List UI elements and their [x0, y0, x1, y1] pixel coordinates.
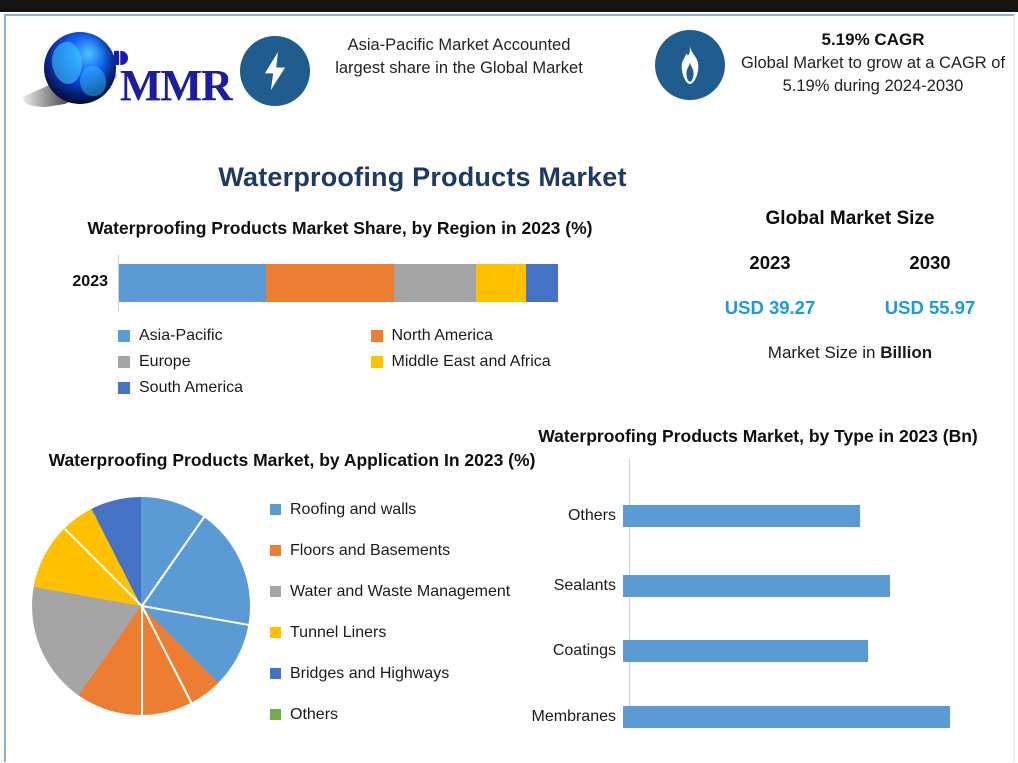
- market-size-unit-prefix: Market Size in: [768, 343, 880, 362]
- region-chart-legend: Asia-PacificNorth AmericaEuropeMiddle Ea…: [118, 327, 623, 405]
- application-share-chart: Waterproofing Products Market, by Applic…: [22, 448, 562, 733]
- legend-label: North America: [392, 327, 493, 345]
- legend-swatch-icon: [270, 668, 281, 679]
- bar-segment-europe: [394, 264, 476, 302]
- infographic-page: ⁍ MMR Asia-Pacific Market Accounted larg…: [0, 0, 1018, 763]
- global-market-size-panel: Global Market Size 2023 USD 39.27 2030 U…: [690, 208, 1010, 363]
- legend-swatch-icon: [118, 356, 130, 368]
- legend-swatch-icon: [371, 330, 383, 342]
- header-highlight-cagr: 5.19% CAGR Global Market to grow at a CA…: [655, 24, 1013, 100]
- header-highlight-text-2: 5.19% CAGR Global Market to grow at a CA…: [725, 24, 1013, 98]
- legend-label: Others: [290, 706, 338, 724]
- market-size-year-2023: 2023: [690, 252, 850, 274]
- bar-segment-north-america: [266, 264, 394, 302]
- lightning-bolt-icon: [240, 36, 310, 106]
- region-share-chart: Waterproofing Products Market Share, by …: [30, 216, 650, 405]
- market-size-unit-note: Market Size in Billion: [690, 343, 1010, 363]
- type-chart: Waterproofing Products Market, by Type i…: [498, 424, 1018, 729]
- page-title: Waterproofing Products Market: [0, 162, 845, 193]
- legend-label: Tunnel Liners: [290, 624, 386, 642]
- header-highlight-text-1: Asia-Pacific Market Accounted largest sh…: [310, 30, 600, 80]
- market-size-col-2023: 2023 USD 39.27: [690, 252, 850, 319]
- globe-icon: [44, 32, 116, 104]
- legend-label: Water and Waste Management: [290, 583, 510, 601]
- legend-item: North America: [371, 327, 624, 345]
- global-market-size-rows: 2023 USD 39.27 2030 USD 55.97: [690, 252, 1010, 319]
- type-chart-row: Sealants: [498, 569, 1018, 603]
- legend-item: Europe: [118, 353, 371, 371]
- legend-swatch-icon: [118, 382, 130, 394]
- type-chart-row: Membranes: [498, 700, 1018, 734]
- flame-icon: [655, 30, 725, 100]
- legend-swatch-icon: [270, 627, 281, 638]
- market-size-col-2030: 2030 USD 55.97: [850, 252, 1010, 319]
- legend-label: Bridges and Highways: [290, 665, 449, 683]
- legend-swatch-icon: [270, 504, 281, 515]
- type-chart-bar: [623, 640, 868, 662]
- type-chart-track: [622, 499, 1018, 533]
- region-chart-plot: 2023: [30, 255, 650, 311]
- legend-swatch-icon: [270, 586, 281, 597]
- legend-item: South America: [118, 379, 371, 397]
- legend-label: Roofing and walls: [290, 501, 416, 519]
- market-size-value-2030: USD 55.97: [850, 297, 1010, 319]
- bar-segment-asia-pacific: [119, 264, 266, 302]
- legend-swatch-icon: [270, 709, 281, 720]
- market-size-year-2030: 2030: [850, 252, 1010, 274]
- legend-label: Asia-Pacific: [139, 327, 223, 345]
- type-chart-bar: [623, 706, 950, 728]
- pie-slice-divider: [141, 606, 143, 715]
- legend-item: Asia-Pacific: [118, 327, 371, 345]
- legend-label: Middle East and Africa: [392, 353, 551, 371]
- bar-segment-south-america: [526, 264, 558, 302]
- type-chart-plot: OthersSealantsCoatingsMembranes: [498, 459, 1018, 729]
- type-chart-track: [622, 700, 1018, 734]
- type-chart-category-label: Others: [498, 507, 622, 525]
- legend-label: Floors and Basements: [290, 542, 450, 560]
- global-market-size-title: Global Market Size: [690, 208, 1010, 230]
- legend-label: Europe: [139, 353, 191, 371]
- cagr-description: Global Market to grow at a CAGR of 5.19%…: [741, 54, 1005, 95]
- legend-swatch-icon: [270, 545, 281, 556]
- type-chart-category-label: Membranes: [498, 708, 622, 726]
- legend-label: South America: [139, 379, 243, 397]
- application-chart-title: Waterproofing Products Market, by Applic…: [22, 448, 562, 473]
- market-size-value-2023: USD 39.27: [690, 297, 850, 319]
- type-chart-row: Coatings: [498, 634, 1018, 668]
- region-chart-category-label: 2023: [30, 273, 108, 291]
- mmr-logo: ⁍ MMR: [22, 30, 222, 108]
- legend-item: Middle East and Africa: [371, 353, 624, 371]
- bar-segment-middle-east-africa: [476, 264, 526, 302]
- legend-swatch-icon: [371, 356, 383, 368]
- type-chart-row: Others: [498, 499, 1018, 533]
- region-stacked-bar: [119, 264, 558, 302]
- type-chart-bar: [623, 505, 860, 527]
- application-chart-plot: Roofing and wallsFloors and BasementsWat…: [22, 483, 562, 733]
- type-chart-category-label: Sealants: [498, 577, 622, 595]
- type-chart-title: Waterproofing Products Market, by Type i…: [498, 424, 1018, 449]
- header: ⁍ MMR Asia-Pacific Market Accounted larg…: [10, 18, 1010, 138]
- type-chart-track: [622, 569, 1018, 603]
- legend-swatch-icon: [118, 330, 130, 342]
- type-chart-category-label: Coatings: [498, 642, 622, 660]
- region-chart-title: Waterproofing Products Market Share, by …: [30, 216, 650, 241]
- type-chart-bar: [623, 575, 890, 597]
- top-black-band: [0, 0, 1018, 12]
- header-highlight-asia-pacific: Asia-Pacific Market Accounted largest sh…: [240, 30, 600, 106]
- logo-text: MMR: [120, 60, 232, 111]
- type-chart-track: [622, 634, 1018, 668]
- market-size-unit: Billion: [880, 343, 932, 362]
- cagr-value: 5.19% CAGR: [737, 28, 1009, 51]
